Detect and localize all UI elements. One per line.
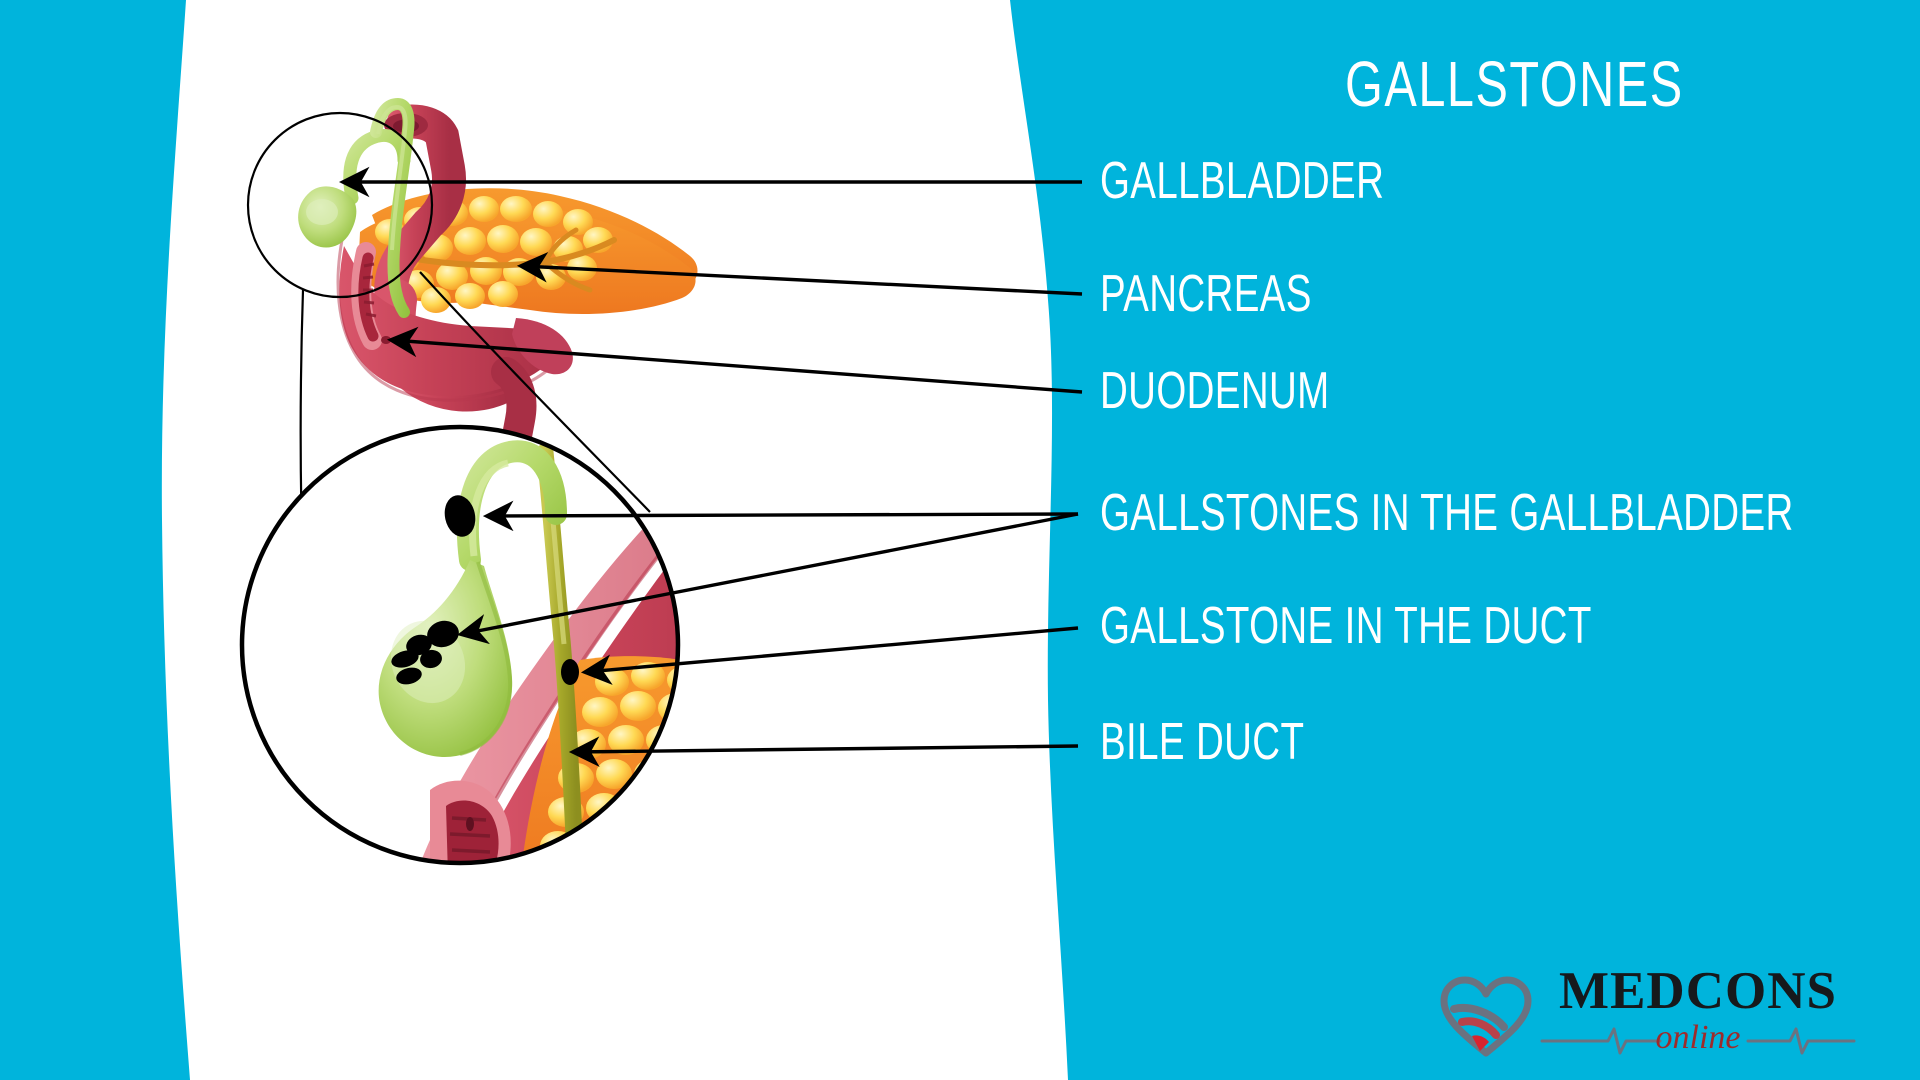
leader-pancreas [522,266,1082,294]
label-duodenum: DUODENUM [1100,365,1330,417]
logo-wordmark: MEDCONS online [1538,963,1858,1063]
leader-bile-duct [574,746,1078,752]
medcons-logo[interactable]: MEDCONS online [1440,963,1860,1063]
infographic-canvas: GALLSTONES GALLBLADDER PANCREAS DUODENUM… [0,0,1920,1080]
page-title: GALLSTONES [1345,52,1684,116]
logo-sub-text: online [1538,1021,1858,1055]
label-gallbladder: GALLBLADDER [1100,155,1384,207]
leader-gallstone-duct [586,628,1078,672]
logo-brand-text: MEDCONS [1538,965,1858,1018]
leader-gallstones-gb-upper [488,514,1078,516]
label-pancreas: PANCREAS [1100,268,1312,320]
label-gallstones-in-gallbladder: GALLSTONES IN THE GALLBLADDER [1100,487,1794,539]
label-bile-duct: BILE DUCT [1100,716,1304,768]
leader-gallstones-gb-lower [462,514,1078,634]
label-gallstone-in-the-duct: GALLSTONE IN THE DUCT [1100,600,1592,652]
logo-online-row: online [1538,1021,1858,1059]
heart-wifi-icon [1440,975,1532,1057]
leader-duodenum [392,340,1082,392]
